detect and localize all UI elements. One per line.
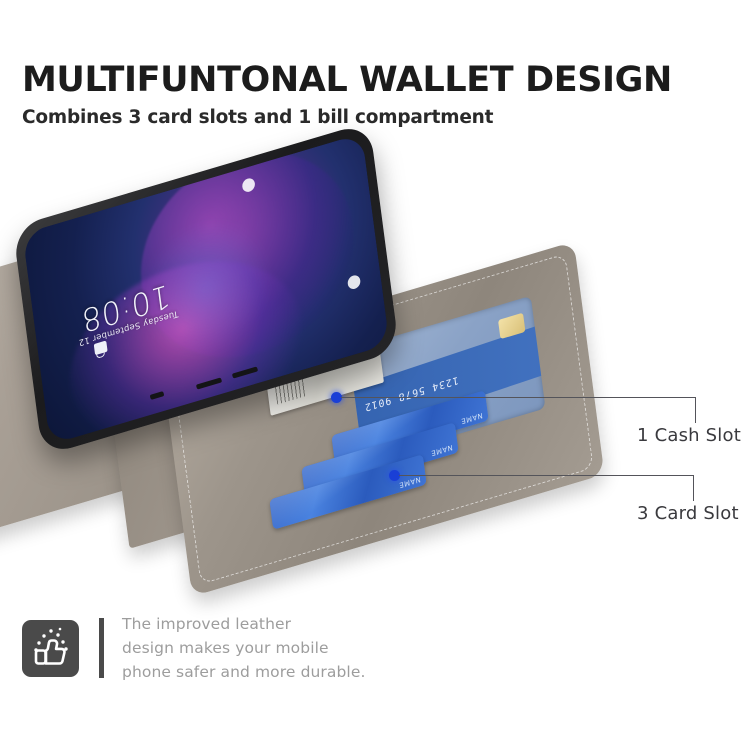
feature-callout: The improved leather design makes your m… — [22, 612, 366, 684]
feature-line: phone safer and more durable. — [122, 660, 366, 684]
callout-leader-line — [399, 475, 694, 476]
page-subtitle: Combines 3 card slots and 1 bill compart… — [22, 107, 722, 128]
page-title: MULTIFUNTONAL WALLET DESIGN — [22, 62, 722, 99]
product-photo: 1234 5678 9012 CARD NAME NAME NAME NAME … — [0, 165, 640, 585]
flashlight-shortcut-icon — [347, 274, 361, 291]
thumbs-up-icon — [22, 620, 79, 677]
infographic-page: MULTIFUNTONAL WALLET DESIGN Combines 3 c… — [0, 0, 750, 750]
callout-label-cash-slot: 1 Cash Slot — [637, 425, 741, 446]
callout-leader-line — [693, 475, 694, 501]
header: MULTIFUNTONAL WALLET DESIGN Combines 3 c… — [22, 62, 722, 128]
feature-description: The improved leather design makes your m… — [122, 612, 366, 684]
feature-line: The improved leather — [122, 612, 366, 636]
callout-label-card-slot: 3 Card Slot — [637, 503, 739, 524]
callout-leader-line — [695, 397, 696, 423]
feature-line: design makes your mobile — [122, 636, 366, 660]
feature-divider-bar — [99, 618, 104, 678]
callout-leader-line — [341, 397, 696, 398]
